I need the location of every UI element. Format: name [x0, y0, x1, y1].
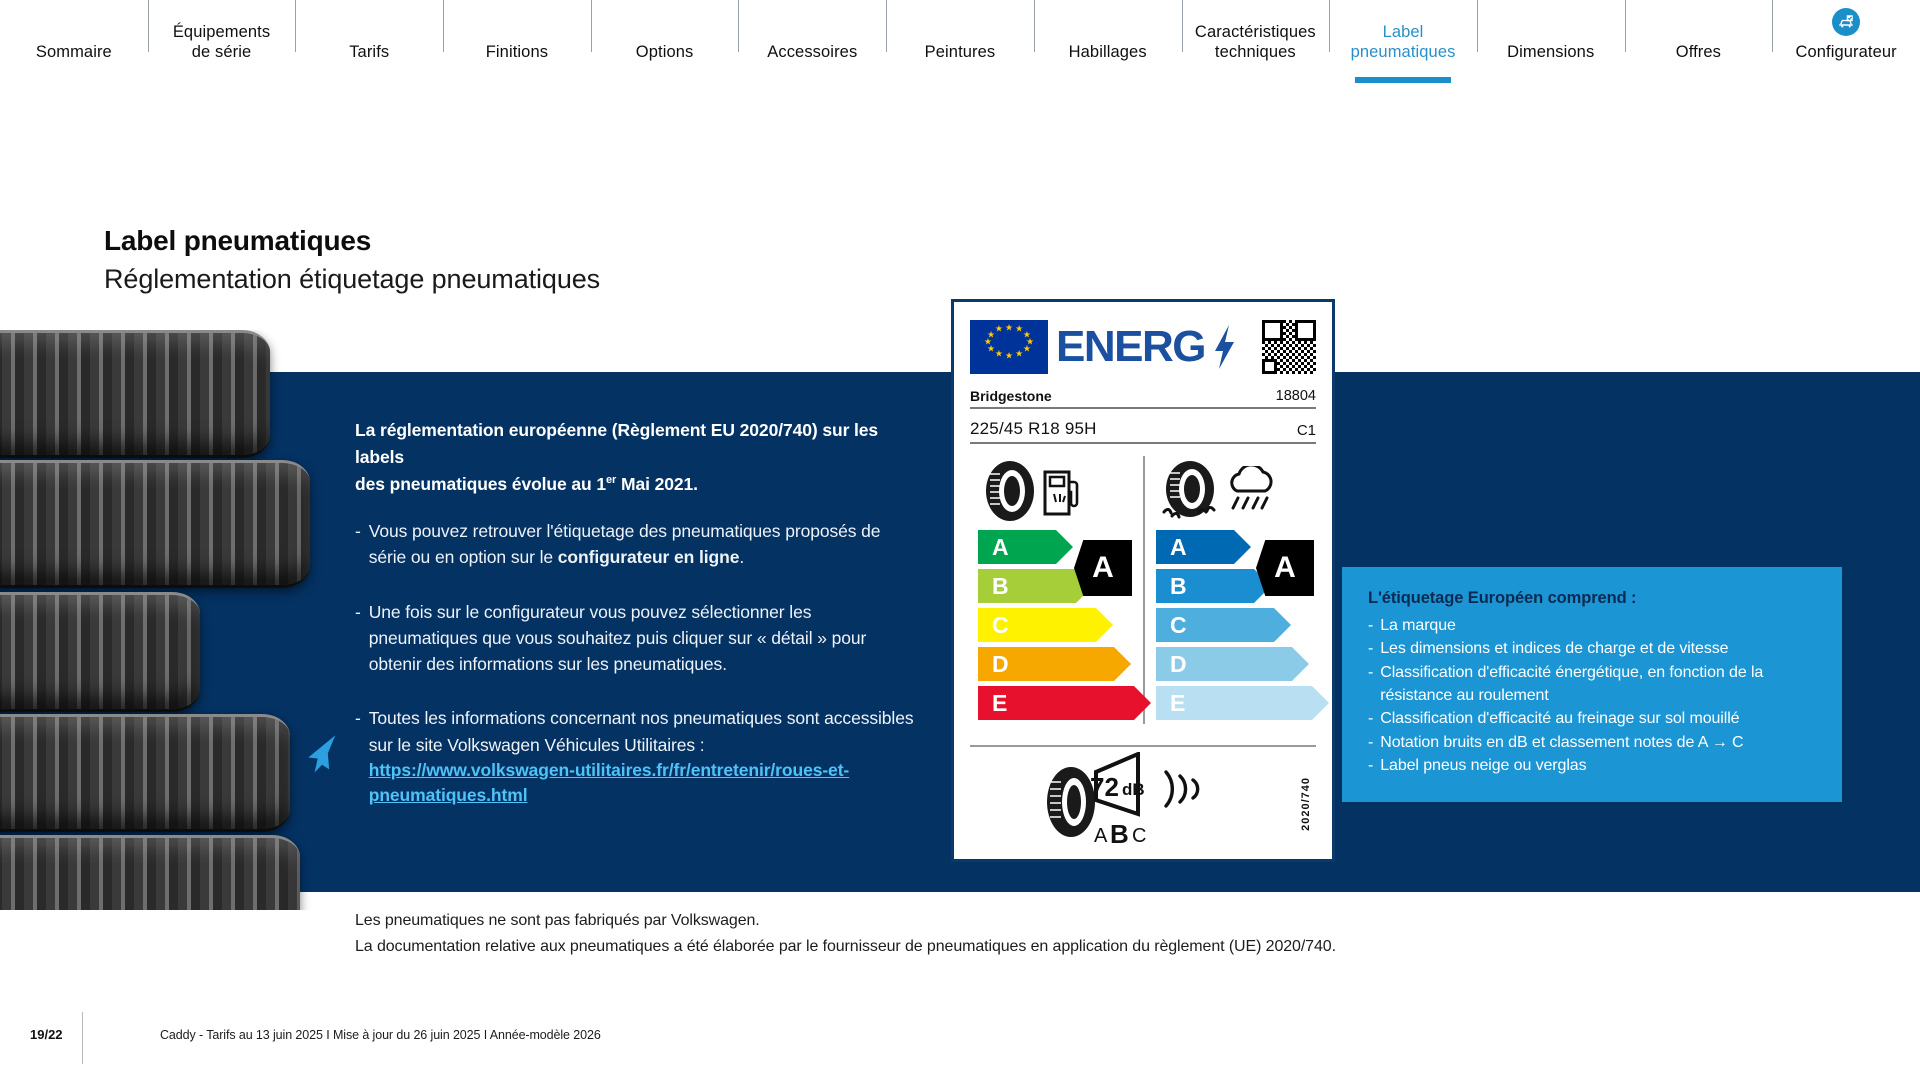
bullet-text-a: Toutes les informations concernant nos p… — [369, 708, 914, 754]
intro-ordinal-suffix: er — [606, 474, 616, 486]
rating-panels: A B C D E A — [970, 456, 1316, 724]
disclaimer-line-2: La documentation relative aux pneumatiqu… — [355, 934, 1655, 960]
grade-letter: B — [992, 573, 1009, 600]
nav-item-habillages[interactable]: Habillages — [1034, 0, 1182, 108]
nav-label: Label pneumatiques — [1351, 22, 1456, 62]
info-item-text: Classification d'efficacité énergétique,… — [1380, 661, 1816, 708]
grade-row: A — [978, 530, 1056, 564]
grade-letter: C — [1170, 612, 1187, 639]
nav-item-sommaire[interactable]: Sommaire — [0, 0, 148, 108]
grade-letter: A — [1170, 534, 1187, 561]
nav-label: Caractéristiques techniques — [1195, 22, 1316, 62]
top-navigation-bar: Sommaire Équipements de série Tarifs Fin… — [0, 0, 1920, 108]
nav-item-dimensions[interactable]: Dimensions — [1477, 0, 1625, 108]
nav-item-label-pneumatiques[interactable]: Label pneumatiques — [1329, 0, 1477, 108]
nav-item-finitions[interactable]: Finitions — [443, 0, 591, 108]
noise-db-value: 72 — [1090, 772, 1119, 803]
nav-item-equipements-de-serie[interactable]: Équipements de série — [148, 0, 296, 108]
grade-letter: B — [1170, 573, 1187, 600]
nav-label: Configurateur — [1795, 42, 1896, 62]
bullet-text: Toutes les informations concernant nos p… — [369, 705, 915, 808]
info-box-title: L'étiquetage Européen comprend : — [1368, 589, 1816, 608]
noise-graphic: 72 dB A B C — [1038, 750, 1248, 846]
grade-letter: D — [1170, 651, 1187, 678]
info-list-item: - Notation bruits en dB et classement no… — [1368, 731, 1816, 754]
page-subtitle: Réglementation étiquetage pneumatiques — [104, 264, 600, 295]
grade-letter: D — [992, 651, 1009, 678]
info-item-text: Classification d'efficacité au freinage … — [1380, 707, 1739, 730]
nav-label: Habillages — [1069, 42, 1147, 62]
fuel-panel-icons — [970, 456, 1136, 530]
nav-item-caracteristiques-techniques[interactable]: Caractéristiques techniques — [1182, 0, 1330, 108]
regulation-reference: 2020/740 — [1300, 777, 1312, 831]
wet-panel-icons — [1156, 456, 1312, 530]
tire-image — [0, 835, 300, 910]
grade-row: A — [1156, 530, 1234, 564]
wet-grip-panel: A B C D E A — [1140, 456, 1316, 724]
bullet-text: Vous pouvez retrouver l'étiquetage des p… — [369, 518, 915, 571]
tyre-code: 18804 — [1276, 388, 1316, 404]
grade-row: D — [1156, 647, 1292, 681]
grade-letter: C — [992, 612, 1009, 639]
tyre-splash-icon — [1160, 460, 1218, 527]
tire-image — [0, 714, 290, 832]
grade-row: E — [978, 686, 1134, 720]
info-dash: - — [1368, 614, 1373, 637]
nav-item-peintures[interactable]: Peintures — [886, 0, 1034, 108]
info-dash: - — [1368, 661, 1373, 708]
rain-cloud-icon — [1224, 466, 1278, 521]
eu-tyre-energy-label: ★ ★ ★ ★ ★ ★ ★ ★ ★ ★ ★ ★ ENERG Bridgeston… — [951, 299, 1335, 862]
footer-divider — [82, 1012, 83, 1064]
bullet-item-1: - Vous pouvez retrouver l'étiquetage des… — [355, 518, 915, 571]
bullet-dash: - — [355, 705, 361, 808]
bullet-item-3: - Toutes les informations concernant nos… — [355, 705, 915, 808]
nav-label: Équipements de série — [173, 22, 270, 62]
info-dash: - — [1368, 754, 1373, 777]
grade-row: B — [978, 569, 1076, 603]
info-list-item: - Classification d'efficacité au freinag… — [1368, 707, 1816, 730]
grade-row: E — [1156, 686, 1312, 720]
noise-class-c: C — [1132, 825, 1146, 848]
sound-waves-icon — [1160, 764, 1214, 819]
info-list-item: - La marque — [1368, 614, 1816, 637]
qr-code-icon — [1262, 320, 1316, 374]
tire-image — [0, 460, 310, 588]
nav-label: Options — [636, 42, 694, 62]
footer-caption: Caddy - Tarifs au 13 juin 2025 I Mise à … — [160, 1028, 601, 1042]
nav-label: Offres — [1676, 42, 1721, 62]
info-dash: - — [1368, 637, 1373, 660]
nav-item-accessoires[interactable]: Accessoires — [738, 0, 886, 108]
bullet-text-bold: configurateur en ligne — [558, 547, 740, 567]
info-item-text: Les dimensions et indices de charge et d… — [1380, 637, 1728, 660]
info-item-text: Label pneus neige ou verglas — [1380, 754, 1586, 777]
grade-letter: A — [992, 534, 1009, 561]
tire-image — [0, 330, 270, 458]
bullet-text: Une fois sur le configurateur vous pouve… — [369, 599, 915, 678]
info-item-text: La marque — [1380, 614, 1456, 637]
label-header: ★ ★ ★ ★ ★ ★ ★ ★ ★ ★ ★ ★ ENERG — [970, 316, 1316, 378]
nav-item-options[interactable]: Options — [591, 0, 739, 108]
info-list-item: - Label pneus neige ou verglas — [1368, 754, 1816, 777]
grade-row: C — [1156, 608, 1274, 642]
intro-line-2a: des pneumatiques évolue au 1 — [355, 474, 606, 494]
nav-label: Tarifs — [349, 42, 389, 62]
page-title: Label pneumatiques — [104, 225, 371, 257]
size-row: 225/45 R18 95H C1 — [970, 419, 1316, 444]
nav-item-offres[interactable]: Offres — [1625, 0, 1773, 108]
eu-flag-icon: ★ ★ ★ ★ ★ ★ ★ ★ ★ ★ ★ ★ — [970, 320, 1048, 374]
brand-row: Bridgestone 18804 — [970, 388, 1316, 409]
nav-item-tarifs[interactable]: Tarifs — [295, 0, 443, 108]
nav-label: Accessoires — [767, 42, 857, 62]
tyre-icon — [984, 460, 1036, 527]
intro-line-1: La réglementation européenne (Règlement … — [355, 420, 878, 467]
disclaimer-text: Les pneumatiques ne sont pas fabriqués p… — [355, 908, 1655, 959]
grade-row: B — [1156, 569, 1254, 603]
nav-label: Sommaire — [36, 42, 112, 62]
noise-section: 72 dB A B C 2020/740 — [970, 745, 1316, 849]
grade-letter: E — [992, 690, 1007, 717]
tyre-class: C1 — [1297, 422, 1316, 439]
car-configurator-icon — [1832, 8, 1860, 36]
energ-wordmark: ENERG — [1056, 322, 1205, 372]
fuel-efficiency-panel: A B C D E A — [970, 456, 1140, 724]
european-labelling-info-box: L'étiquetage Européen comprend : - La ma… — [1342, 567, 1842, 802]
bullet-text-b: . — [739, 547, 744, 567]
nav-item-configurateur[interactable]: Configurateur — [1772, 0, 1920, 108]
info-list-item: - Classification d'efficacité énergétiqu… — [1368, 661, 1816, 708]
noise-db-unit: dB — [1122, 780, 1145, 800]
fuel-rating-badge: A — [1074, 540, 1132, 596]
stacked-tires-photo — [0, 330, 330, 910]
intro-line-2b: Mai 2021. — [616, 474, 698, 494]
tyre-brand: Bridgestone — [970, 388, 1052, 404]
lightning-bolt-icon — [1213, 325, 1235, 369]
tyre-size: 225/45 R18 95H — [970, 419, 1097, 439]
disclaimer-line-1: Les pneumatiques ne sont pas fabriqués p… — [355, 908, 1655, 934]
nav-label: Finitions — [486, 42, 548, 62]
noise-class-b: B — [1110, 819, 1129, 850]
tire-image — [0, 592, 200, 712]
wet-rating-badge: A — [1256, 540, 1314, 596]
bullet-dash: - — [355, 518, 361, 571]
info-dash: - — [1368, 707, 1373, 730]
nav-active-underline — [1355, 77, 1451, 83]
regulation-intro-text: La réglementation européenne (Règlement … — [355, 417, 925, 498]
nav-label: Peintures — [925, 42, 996, 62]
bullet-list: - Vous pouvez retrouver l'étiquetage des… — [355, 518, 915, 837]
info-item-text: Notation bruits en dB et classement note… — [1380, 731, 1743, 754]
grade-row: C — [978, 608, 1096, 642]
nav-label: Dimensions — [1507, 42, 1594, 62]
grade-row: D — [978, 647, 1114, 681]
info-dash: - — [1368, 731, 1373, 754]
fuel-pump-icon — [1042, 466, 1082, 521]
grade-letter: E — [1170, 690, 1185, 717]
page-number: 19/22 — [30, 1027, 63, 1042]
noise-class-a: A — [1094, 825, 1107, 848]
bullet-item-2: - Une fois sur le configurateur vous pou… — [355, 599, 915, 678]
tyre-info-link[interactable]: https://www.volkswagen-utilitaires.fr/fr… — [369, 758, 915, 809]
link-pointer-arrow-icon — [298, 735, 342, 775]
bullet-dash: - — [355, 599, 361, 678]
info-list-item: - Les dimensions et indices de charge et… — [1368, 637, 1816, 660]
